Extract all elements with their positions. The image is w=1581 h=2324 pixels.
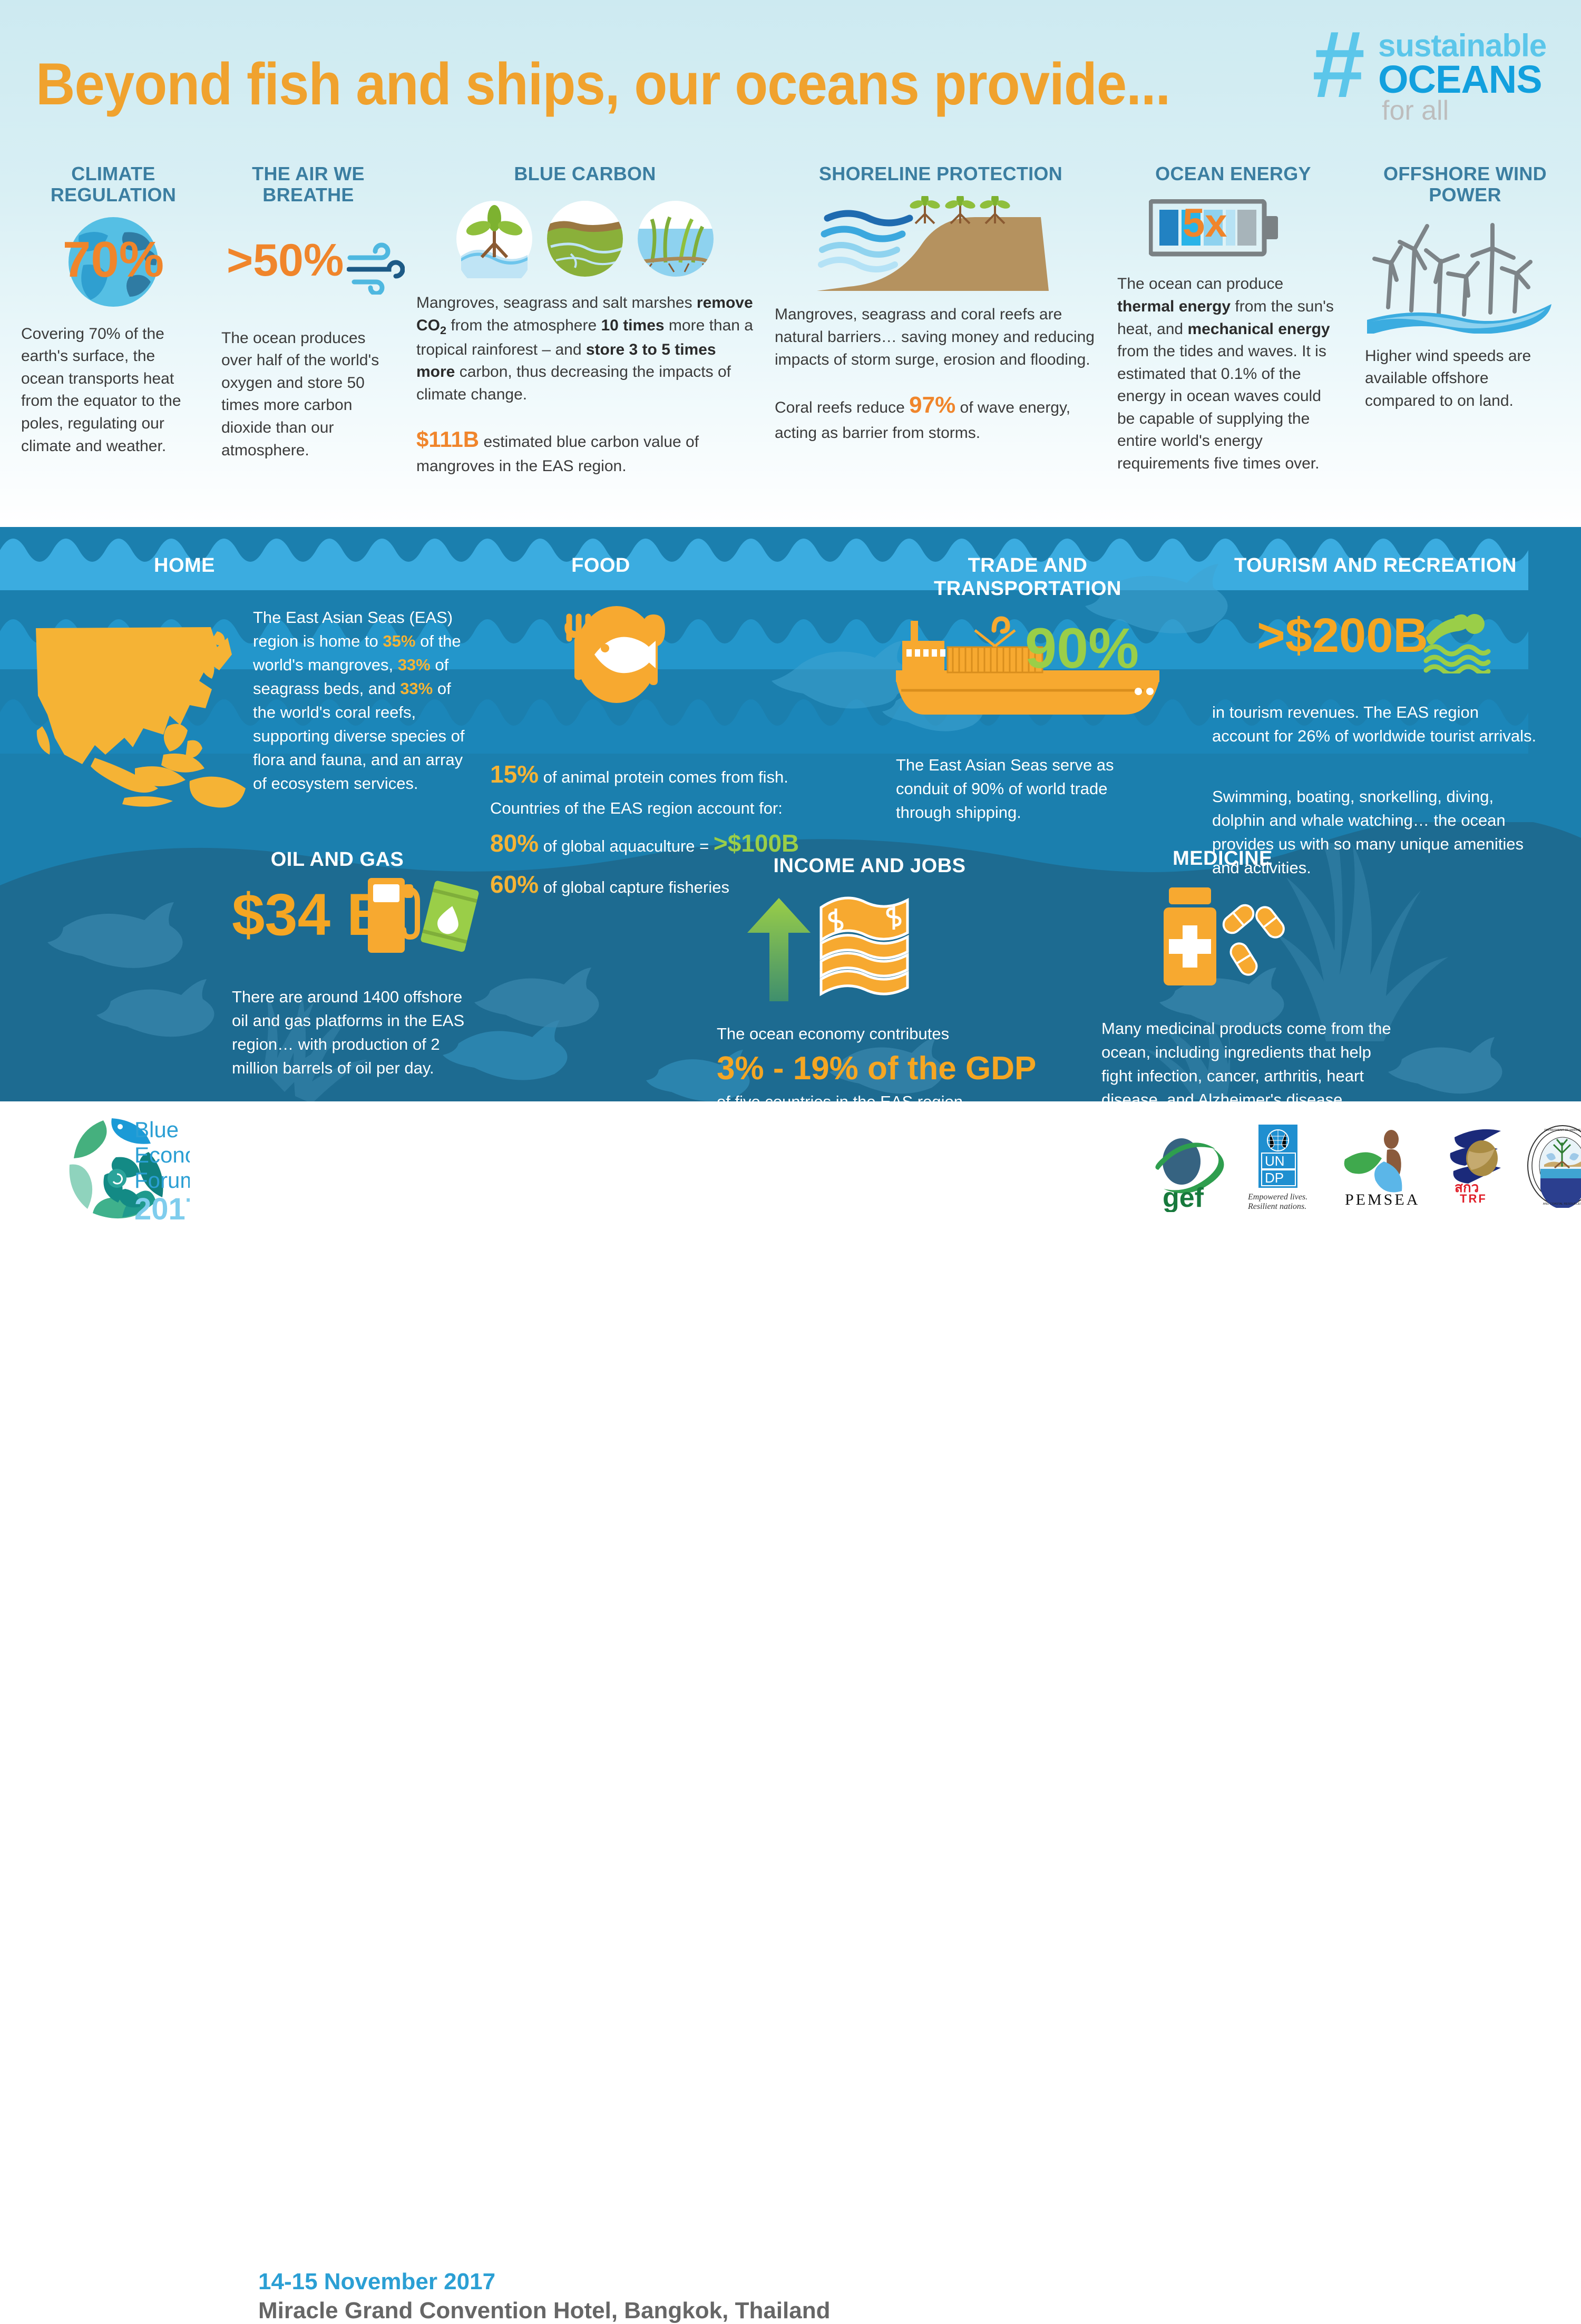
pill-bottle-icon [1159, 885, 1296, 996]
svg-text:AND COASTAL RESOURCES: AND COASTAL RESOURCES [1543, 1203, 1581, 1206]
section-title-medicine: MEDICINE [1086, 847, 1360, 871]
event-date: 14-15 November 2017 [258, 2269, 495, 2295]
blue-economy-forum-logo: Blue Economy Forum 2017 [37, 1112, 190, 1228]
dmcr-label: DEPARTMENT OF MARINE [1544, 1129, 1581, 1132]
section-body: The ocean can produce thermal energy fro… [1117, 273, 1339, 475]
fuel-pump-icon [364, 875, 480, 970]
section-title: BLUE CARBON [416, 163, 754, 184]
section-title: CLIMATE REGULATION [21, 163, 206, 206]
section-body: Covering 70% of the earth's surface, the… [21, 323, 195, 458]
footer: Blue Economy Forum 2017 14-15 November 2… [0, 1101, 1581, 1238]
section-body-medicine: Many medicinal products come from the oc… [1101, 1017, 1397, 1101]
section-body-home: The East Asian Seas (EAS) region is home… [253, 606, 474, 796]
section-body: Mangroves, seagrass and salt marshes rem… [416, 292, 754, 406]
ocean-band: HOME The East Asian Seas (EAS) region is… [0, 527, 1581, 1101]
pemsea-label: PEMSEA [1345, 1191, 1420, 1208]
svg-text:UN: UN [1265, 1153, 1285, 1169]
stat-value: 97% [909, 392, 955, 418]
east-asia-map-icon [32, 597, 258, 823]
stat-value: 5x [1183, 203, 1227, 243]
infographic-page: Beyond fish and ships, our oceans provid… [0, 0, 1581, 1238]
section-body-income: The ocean economy contributes 3% - 19% o… [717, 1022, 1054, 1101]
stat-value: 70% [21, 235, 206, 285]
wind-turbines-icon [1365, 218, 1555, 334]
section-title: THE AIR WE BREATHE [221, 163, 395, 206]
section-shoreline-protection: SHORELINE PROTECTION [775, 163, 1107, 444]
stat-value: >50% [227, 238, 344, 283]
dmcr-logo: DEPARTMENT OF MARINE AND COASTAL RESOURC… [1523, 1124, 1581, 1208]
trf-logo: สกว TRF [1439, 1126, 1528, 1205]
bef-year: 2017 [134, 1192, 190, 1226]
section-body: Mangroves, seagrass and coral reefs are … [775, 304, 1101, 371]
stat-value-income: 3% - 19% of the GDP [717, 1049, 1054, 1088]
bef-line2: Economy [134, 1143, 190, 1167]
section-title-trade: TRADE AND TRANSPORTATION [896, 554, 1159, 600]
section-body: Higher wind speeds are available offshor… [1365, 345, 1560, 413]
section-body-oil: There are around 1400 offshore oil and g… [232, 985, 474, 1080]
arrow-money-icon [738, 896, 928, 1007]
pemsea-logo: PEMSEA [1333, 1127, 1428, 1211]
bef-line3: Forum [134, 1168, 190, 1193]
fish-plate-icon [538, 595, 696, 717]
income-body-post: of five countries in the EAS region. [717, 1090, 1054, 1101]
section-title: OFFSHORE WIND POWER [1365, 163, 1565, 206]
globe-icon: 70% [21, 214, 206, 309]
undp-tagline-2: Resilient nations. [1247, 1202, 1306, 1211]
mangrove-shoreline-icon [817, 196, 1065, 296]
logo-line-forall: for all [1382, 95, 1449, 126]
section-title-home: HOME [47, 554, 321, 578]
svg-text:DP: DP [1265, 1170, 1284, 1186]
section-offshore-wind-power: OFFSHORE WIND POWER Higher wind speeds a… [1365, 163, 1565, 412]
section-ocean-energy: OCEAN ENERGY 5x The ocean can produce th… [1117, 163, 1349, 475]
page-title: Beyond fish and ships, our oceans provid… [36, 50, 1170, 118]
section-climate-regulation: CLIMATE REGULATION 70% Covering 70% of t… [21, 163, 206, 457]
section-body-food: 15% of animal protein comes from fish. C… [490, 754, 891, 905]
section-stat-line: $111B estimated blue carbon value of man… [416, 424, 733, 477]
section-title-tourism: TOURISM AND RECREATION [1212, 554, 1539, 578]
hashtag-icon: # [1312, 25, 1365, 104]
section-blue-carbon: BLUE CARBON [416, 163, 754, 478]
section-body-tourism-1: in tourism revenues. The EAS region acco… [1212, 701, 1539, 748]
section-title-food: FOOD [490, 554, 711, 578]
section-the-air-we-breathe: THE AIR WE BREATHE >50% The ocean produc… [221, 163, 395, 462]
section-body: The ocean produces over half of the worl… [221, 327, 385, 462]
stat-value-tourism: >$200B [1257, 611, 1428, 660]
section-title-income: INCOME AND JOBS [711, 855, 1028, 878]
mangrove-icon [455, 199, 534, 278]
section-stat-line: Coral reefs reduce 97% of wave energy, a… [775, 389, 1101, 444]
wind-icon [347, 242, 405, 295]
event-venue: Miracle Grand Convention Hotel, Bangkok,… [258, 2298, 830, 2324]
section-title: SHORELINE PROTECTION [775, 163, 1107, 184]
income-body-pre: The ocean economy contributes [717, 1022, 1054, 1046]
bef-line1: Blue [134, 1117, 179, 1142]
sustainable-oceans-logo: # sustainable OCEANS for all [1312, 16, 1560, 126]
stat-value: $111B [416, 427, 479, 452]
section-title: OCEAN ENERGY [1117, 163, 1349, 184]
trf-label: TRF [1460, 1192, 1487, 1205]
undp-tagline-1: Empowered lives. [1247, 1193, 1307, 1202]
salt-marsh-icon [545, 199, 624, 278]
section-body-trade: The East Asian Seas serve as conduit of … [896, 754, 1149, 825]
undp-logo: UN DP Empowered lives. Resilient nations… [1244, 1125, 1323, 1214]
gef-logo: gef [1149, 1133, 1238, 1212]
stat-value-trade: 90% [1025, 620, 1139, 677]
gef-label: gef [1163, 1183, 1204, 1212]
section-title-oil: OIL AND GAS [200, 848, 474, 872]
seagrass-icon [636, 199, 715, 278]
swimmer-icon [1423, 605, 1491, 673]
